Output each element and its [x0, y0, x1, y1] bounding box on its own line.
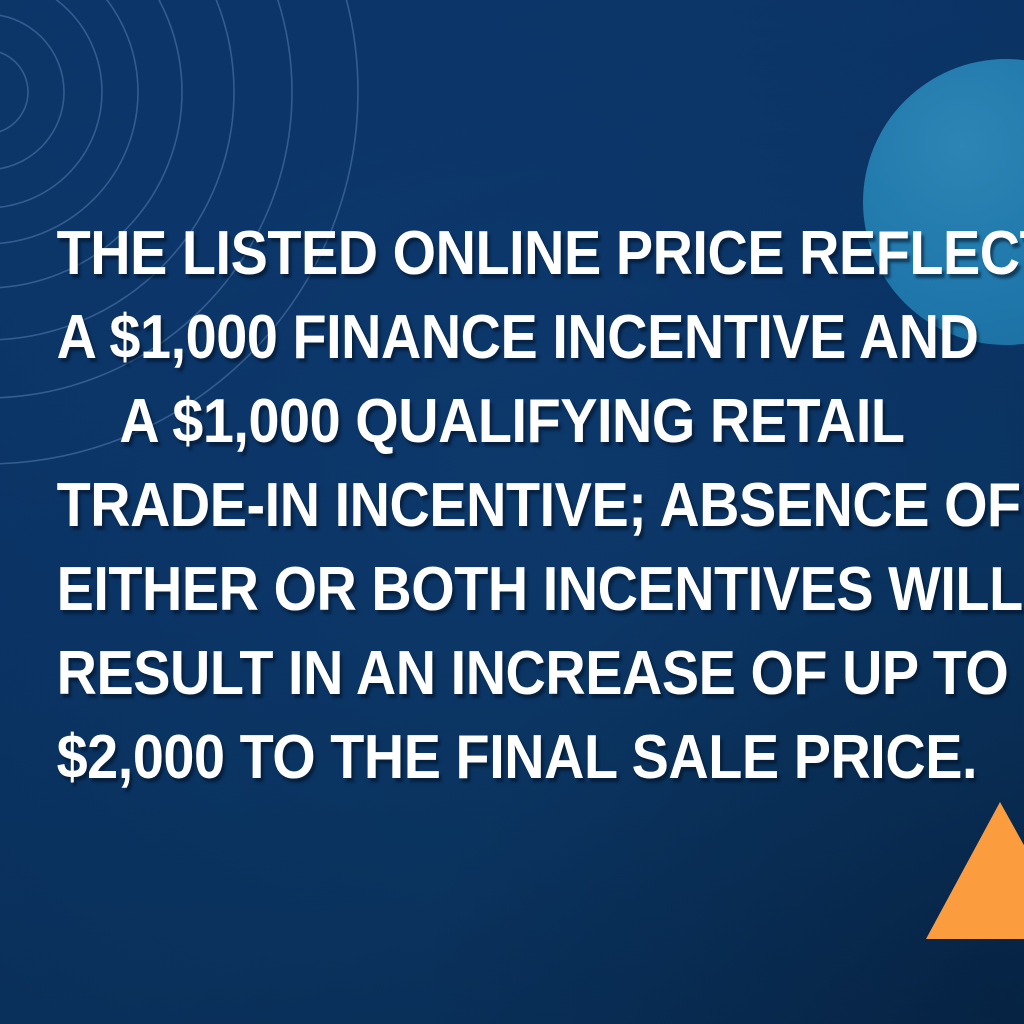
headline-line-7: $2,000 TO THE FINAL SALE PRICE. [57, 716, 968, 800]
headline-text: THE LISTED ONLINE PRICE REFLECTS A $1,00… [51, 212, 973, 800]
headline-line-4: TRADE-IN INCENTIVE; ABSENCE OF [57, 464, 968, 548]
headline-line-5: EITHER OR BOTH INCENTIVES WILL [57, 548, 968, 632]
headline-line-6: RESULT IN AN INCREASE OF UP TO [57, 632, 968, 716]
headline-line-3: A $1,000 QUALIFYING RETAIL [57, 380, 968, 464]
triangle-decoration [926, 802, 1024, 939]
promo-banner: THE LISTED ONLINE PRICE REFLECTS A $1,00… [0, 0, 1024, 1024]
headline-line-1: THE LISTED ONLINE PRICE REFLECTS [57, 212, 968, 296]
headline-line-2: A $1,000 FINANCE INCENTIVE AND [57, 296, 968, 380]
